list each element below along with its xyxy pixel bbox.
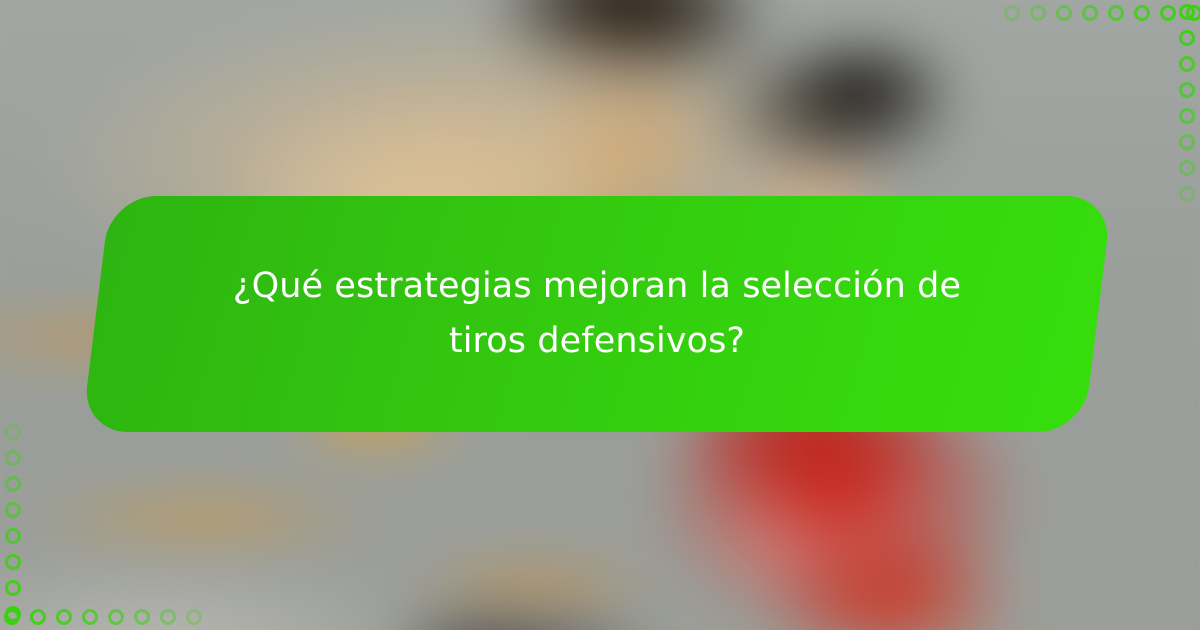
question-text: ¿Qué estrategias mejoran la selección de… (96, 196, 1098, 432)
decorative-circle-icon (5, 528, 21, 544)
decorative-circle-icon (1179, 30, 1195, 46)
decorative-circle-icon (1179, 108, 1195, 124)
dot-row-top-right (1000, 0, 1200, 26)
decorative-circle-icon (82, 609, 98, 625)
decorative-circle-icon (56, 609, 72, 625)
decorative-circle-icon (1179, 186, 1195, 202)
decorative-circle-icon (1004, 5, 1020, 21)
decorative-circle-icon (1179, 160, 1195, 176)
decorative-circle-icon (1179, 134, 1195, 150)
decorative-circle-icon (5, 606, 21, 622)
decorative-circle-icon (1108, 5, 1124, 21)
decorative-circle-icon (5, 502, 21, 518)
dot-column-left (0, 420, 26, 630)
decorative-circle-icon (134, 609, 150, 625)
decorative-circle-icon (1134, 5, 1150, 21)
decorative-circle-icon (1082, 5, 1098, 21)
decorative-circle-icon (5, 424, 21, 440)
dot-column-right (1174, 0, 1200, 210)
decorative-circle-icon (160, 609, 176, 625)
decorative-circle-icon (5, 580, 21, 596)
dot-row-bottom-left (0, 604, 200, 630)
decorative-circle-icon (5, 476, 21, 492)
decorative-circle-icon (1179, 56, 1195, 72)
decorative-circle-icon (1056, 5, 1072, 21)
question-banner: ¿Qué estrategias mejoran la selección de… (96, 196, 1098, 432)
decorative-circle-icon (1030, 5, 1046, 21)
decorative-circle-icon (108, 609, 124, 625)
decorative-circle-icon (30, 609, 46, 625)
decorative-circle-icon (1179, 82, 1195, 98)
decorative-circle-icon (5, 554, 21, 570)
decorative-circle-icon (1179, 4, 1195, 20)
decorative-circle-icon (186, 609, 202, 625)
poster-canvas: ¿Qué estrategias mejoran la selección de… (0, 0, 1200, 630)
decorative-circle-icon (5, 450, 21, 466)
